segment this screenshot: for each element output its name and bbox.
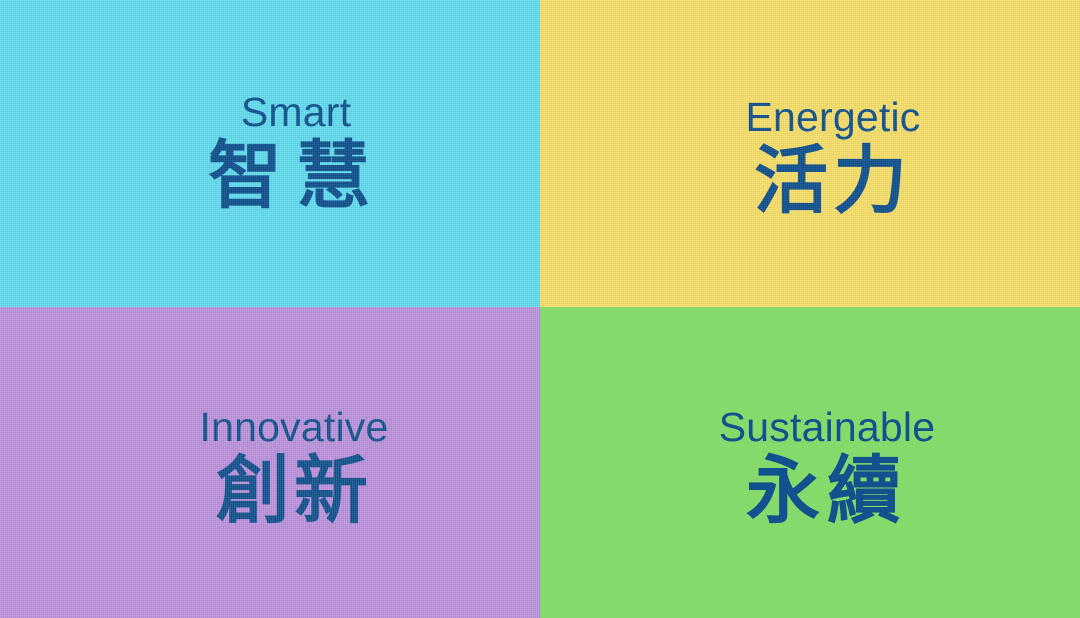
sustainable-label-en: Sustainable bbox=[574, 407, 1080, 449]
sustainable-text-block: Sustainable 永續 bbox=[540, 407, 1080, 529]
innovative-label-cjk: 創新 bbox=[48, 454, 540, 529]
smart-text-block: Smart 智慧 bbox=[0, 92, 540, 214]
innovative-label-en: Innovative bbox=[48, 407, 540, 449]
brand-values-poster: Smart 智慧 Energetic 活力 Innovative 創新 Sust… bbox=[0, 0, 1080, 618]
energetic-text-block: Energetic 活力 bbox=[540, 97, 1080, 219]
innovative-text-block: Innovative 創新 bbox=[0, 407, 540, 529]
energetic-label-en: Energetic bbox=[586, 97, 1080, 139]
sustainable-label-cjk: 永續 bbox=[574, 454, 1080, 529]
quadrant-smart: Smart 智慧 bbox=[0, 0, 540, 307]
energetic-label-cjk: 活力 bbox=[586, 144, 1080, 219]
smart-label-en: Smart bbox=[52, 92, 540, 134]
smart-label-cjk: 智慧 bbox=[52, 139, 540, 214]
quadrant-sustainable: Sustainable 永續 bbox=[540, 307, 1080, 618]
quadrant-innovative: Innovative 創新 bbox=[0, 307, 540, 618]
quadrant-energetic: Energetic 活力 bbox=[540, 0, 1080, 307]
